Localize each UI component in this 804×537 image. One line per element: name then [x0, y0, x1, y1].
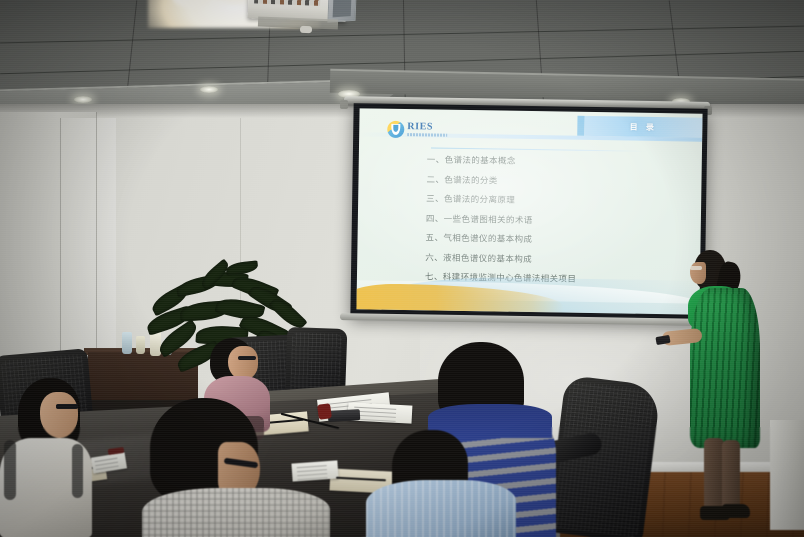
- side-cabinet: [770, 420, 804, 530]
- audio-recorder: [328, 409, 361, 422]
- presenter-leg: [722, 440, 740, 512]
- toc-item: 六、液相色谱仪的基本构成: [425, 251, 684, 267]
- projection-screen: 目 录 RIES 一、色谱法的基本概念 二、色谱法的分类 三、色谱法的分离原理 …: [350, 103, 707, 321]
- slide-title-rule: [431, 147, 647, 151]
- ries-logo-subtitle: [407, 133, 447, 137]
- glasses-icon: [690, 266, 702, 270]
- ries-wordmark: RIES: [407, 122, 447, 133]
- toc-item: 二、色谱法的分类: [426, 173, 685, 189]
- slide-toc-list: 一、色谱法的基本概念 二、色谱法的分类 三、色谱法的分离原理 四、一些色谱图相关…: [425, 153, 686, 294]
- presentation-photo-scene: 目 录 RIES 一、色谱法的基本概念 二、色谱法的分类 三、色谱法的分离原理 …: [0, 0, 804, 537]
- glasses-icon: [56, 404, 78, 409]
- projector-mount: [300, 26, 312, 33]
- projector-ports: [254, 0, 320, 6]
- toc-item: 一、色谱法的基本概念: [427, 153, 686, 169]
- presenter-leg: [704, 438, 724, 512]
- toc-item: 四、一些色谱图相关的术语: [426, 212, 685, 228]
- slide-header-title: 目 录: [630, 121, 657, 132]
- presenter-green-dress: [690, 288, 760, 448]
- paper-document: [291, 460, 338, 481]
- slide-header-banner: 目 录: [584, 116, 702, 138]
- presenter-shoe: [722, 504, 750, 518]
- bottle: [122, 332, 132, 354]
- downlight-icon: [200, 86, 218, 93]
- recorder-stand: [317, 403, 332, 420]
- bottle: [136, 336, 145, 354]
- toc-item: 三、色谱法的分离原理: [426, 192, 685, 208]
- toc-item: 五、气相色谱仪的基本构成: [425, 231, 684, 247]
- ries-logo-mark-icon: [387, 120, 404, 137]
- slide-surface: 目 录 RIES 一、色谱法的基本概念 二、色谱法的分类 三、色谱法的分离原理 …: [356, 108, 702, 314]
- ries-logo: RIES: [387, 118, 453, 141]
- glasses-icon: [238, 356, 256, 360]
- downlight-icon: [74, 96, 92, 103]
